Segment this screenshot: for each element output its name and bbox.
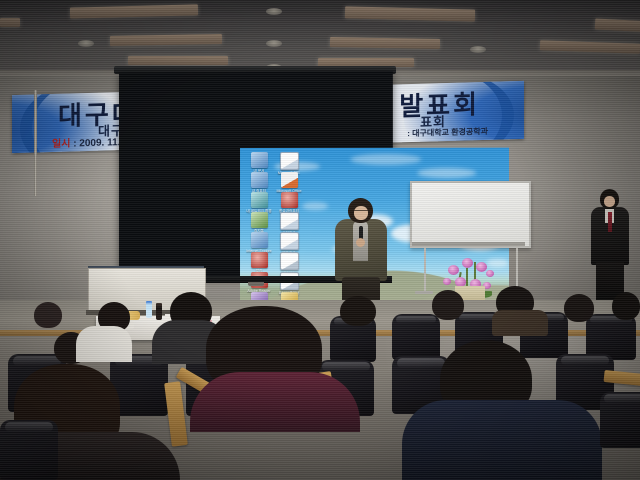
ceiling-light-fixture: [330, 37, 440, 49]
red-icon: [251, 252, 268, 268]
water-bottle: [146, 301, 152, 318]
blue-icon: [251, 172, 268, 188]
audience-body: [76, 326, 132, 362]
desktop-icon[interactable]: 내 문서: [246, 152, 272, 173]
whiteboard-foot: [415, 291, 433, 294]
ceiling-speaker-icon: [78, 40, 94, 47]
orchid-bloom: [476, 262, 487, 272]
desktop-icon[interactable]: 내 네트워크 환경: [246, 192, 272, 213]
whiteboard: [410, 181, 531, 248]
desktop-icon[interactable]: 휴지통: [246, 212, 272, 233]
whiteboard-marker-tray: [412, 242, 525, 246]
glasses-icon: [354, 210, 368, 214]
teal-icon: [251, 192, 268, 208]
cloud: [487, 259, 510, 267]
ceiling-light-fixture: [345, 6, 475, 21]
desktop-icon[interactable]: 내 컴퓨터: [246, 172, 272, 193]
red-icon: [281, 192, 298, 208]
audience-head: [564, 294, 594, 322]
auditorium-photo: 대구대 발표회 대구 표회 일시 : 2009. 11. 20(금) : 대구대…: [0, 0, 640, 480]
doc-icon: [280, 232, 299, 250]
wall-rod: [34, 90, 37, 196]
seat[interactable]: [0, 420, 58, 480]
audience-head: [612, 292, 640, 320]
blue-icon: [251, 232, 268, 248]
banner-department: : 대구대학교 환경공학과: [407, 126, 488, 139]
audience-head: [432, 290, 464, 320]
ceiling-light-fixture: [595, 18, 640, 32]
cloud: [350, 154, 421, 165]
audience-head: [340, 296, 376, 326]
screen-pull-tab[interactable]: [248, 282, 264, 286]
dark-bottle: [156, 303, 162, 320]
ppt-icon: [281, 172, 298, 188]
seat[interactable]: [600, 392, 640, 448]
ceiling-light-fixture: [70, 4, 198, 18]
seat[interactable]: [392, 314, 440, 360]
ceiling-light-fixture: [128, 56, 228, 65]
desktop-icon[interactable]: 한글과컴퓨터: [276, 192, 302, 213]
cloud: [302, 202, 328, 210]
ceiling-light-fixture: [110, 34, 222, 46]
doc-icon: [280, 212, 299, 230]
orchid-bloom: [448, 265, 459, 275]
audience-body: [190, 372, 360, 432]
audience-body: [492, 310, 548, 336]
presenter-hand: [356, 238, 365, 247]
orchid-bloom: [443, 278, 451, 285]
attendant-tie: [608, 212, 612, 232]
wht-icon: [280, 252, 299, 270]
whiteboard-leg: [424, 246, 426, 292]
audience-body: [402, 400, 602, 480]
doc-icon: [280, 152, 299, 170]
grn-icon: [251, 212, 268, 228]
ceiling-speaker-icon: [470, 46, 486, 53]
attendant-face: [604, 196, 615, 207]
orchid-bloom: [462, 258, 473, 268]
desktop-icon[interactable]: 알집: [246, 252, 272, 274]
banner-date-label: 일시: [52, 139, 70, 151]
orchid-bloom: [486, 270, 494, 277]
ceiling-speaker-icon: [266, 40, 282, 47]
ceiling-light-fixture: [540, 40, 640, 53]
cloud: [417, 168, 476, 178]
ceiling-light-fixture: [0, 18, 20, 27]
audience-head: [34, 302, 62, 328]
ceiling-speaker-icon: [266, 8, 282, 15]
blue-icon: [251, 152, 268, 168]
